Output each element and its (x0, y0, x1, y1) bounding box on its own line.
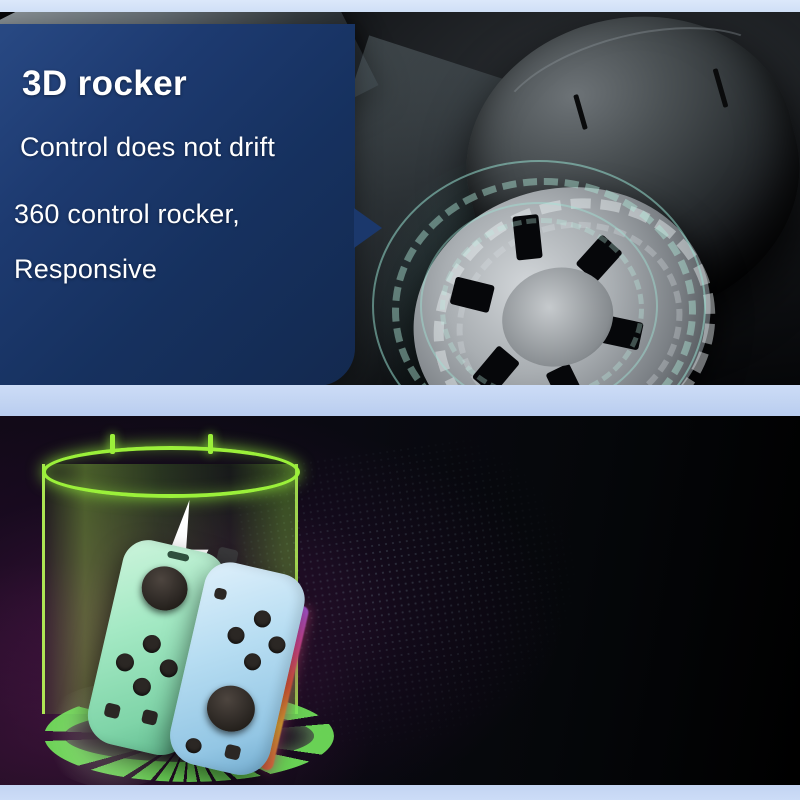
rocker-line-3: Responsive (14, 254, 157, 285)
battery-terminal-nub (208, 434, 213, 454)
dpad-left-button (114, 652, 136, 674)
dpad-down-button (131, 676, 153, 698)
dpad-right-button (158, 658, 180, 680)
joycon-right-aux-button (224, 744, 242, 761)
product-feature-graphic: 3D rocker Control does not drift 360 con… (0, 0, 800, 800)
cylinder-top-rim (42, 446, 300, 498)
battery-terminal-nub (110, 434, 115, 454)
minus-button (141, 709, 159, 726)
panel-long-life-battery: Long life battery Large capacity battery… (0, 416, 800, 785)
dpad-up-button (141, 633, 163, 655)
a-button (267, 635, 287, 655)
top-edge-band (0, 0, 800, 12)
bottom-edge-band (0, 785, 800, 800)
y-button (226, 625, 246, 645)
panel-separator-band (0, 385, 800, 416)
rocker-line-1: Control does not drift (20, 132, 275, 163)
joycon-left-analog-stick (137, 562, 192, 615)
x-button (252, 609, 272, 629)
rocker-line-2: 360 control rocker, (14, 199, 240, 230)
bubble-tail-right (354, 208, 382, 248)
panel-3d-rocker: 3D rocker Control does not drift 360 con… (0, 12, 800, 385)
plus-button (213, 587, 227, 600)
home-button (184, 737, 203, 755)
joycon-left-sl-rail (167, 550, 190, 562)
capture-button (103, 702, 121, 719)
b-button (242, 652, 262, 672)
rocker-headline: 3D rocker (22, 64, 187, 104)
joycon-right-analog-stick (202, 681, 259, 737)
speech-bubble-3d-rocker: 3D rocker Control does not drift 360 con… (0, 24, 355, 385)
encoder-slot (512, 214, 542, 260)
